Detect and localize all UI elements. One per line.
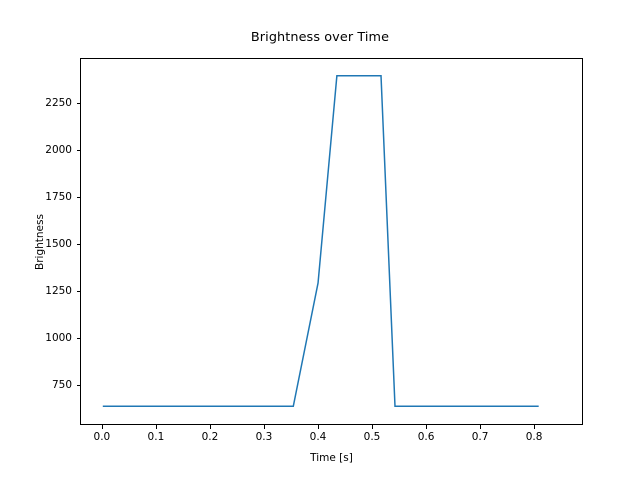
data-line-svg xyxy=(81,59,582,424)
x-tick-mark xyxy=(426,425,427,429)
y-tick-label: 1250 xyxy=(0,285,72,297)
x-tick-mark xyxy=(102,425,103,429)
y-tick-label: 1500 xyxy=(0,238,72,250)
y-tick-label: 750 xyxy=(0,379,72,391)
x-tick-label: 0.6 xyxy=(418,431,435,443)
x-tick-mark xyxy=(318,425,319,429)
x-tick-label: 0.8 xyxy=(526,431,543,443)
x-axis-label: Time [s] xyxy=(80,452,583,464)
y-tick-label: 1000 xyxy=(0,332,72,344)
x-tick-mark xyxy=(156,425,157,429)
x-tick-label: 0.0 xyxy=(94,431,111,443)
x-tick-label: 0.2 xyxy=(202,431,219,443)
x-tick-label: 0.1 xyxy=(148,431,165,443)
y-tick-label: 2000 xyxy=(0,144,72,156)
x-tick-label: 0.3 xyxy=(256,431,273,443)
x-tick-mark xyxy=(480,425,481,429)
x-tick-mark xyxy=(372,425,373,429)
brightness-line-series xyxy=(103,76,539,406)
x-tick-label: 0.4 xyxy=(310,431,327,443)
x-tick-mark xyxy=(264,425,265,429)
plot-area xyxy=(80,58,583,425)
y-tick-label: 2250 xyxy=(0,97,72,109)
x-tick-label: 0.7 xyxy=(472,431,489,443)
x-tick-mark xyxy=(534,425,535,429)
figure-canvas: Brightness over Time Brightness 75010001… xyxy=(0,0,640,480)
chart-title: Brightness over Time xyxy=(0,30,640,45)
x-tick-label: 0.5 xyxy=(364,431,381,443)
x-tick-mark xyxy=(210,425,211,429)
y-tick-label: 1750 xyxy=(0,191,72,203)
